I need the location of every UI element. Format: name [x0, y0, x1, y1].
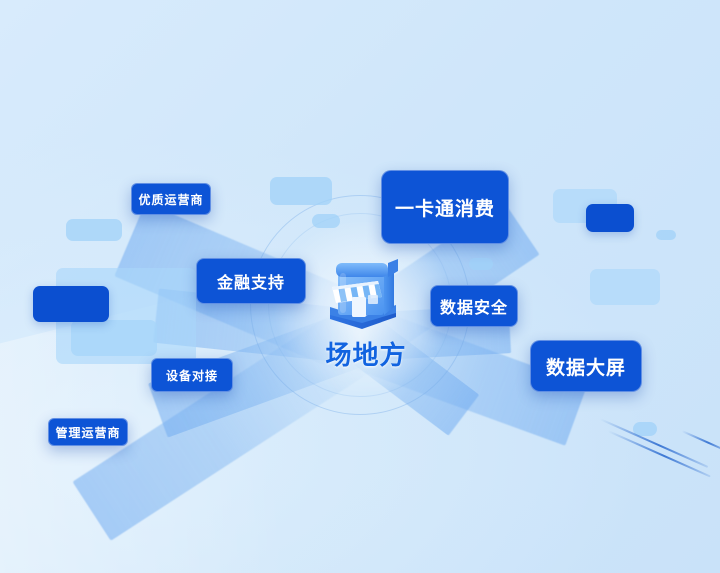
infographic-canvas: 场地方 优质运营商 金融支持 设备对接 管理运营商 一卡通消费 数据安全 数据大…: [0, 0, 720, 573]
node-chip-jinrong-zhichi[interactable]: 金融支持: [196, 258, 306, 304]
decor-rect-right-3: [656, 230, 676, 240]
decor-rect-top-1: [270, 177, 332, 205]
decor-rect-right-2: [586, 204, 634, 232]
decor-rect-right-5: [469, 258, 493, 270]
decor-rect-top-2: [312, 214, 340, 228]
decor-rect-left-3: [33, 286, 109, 322]
decor-rect-right-4: [590, 269, 660, 305]
decor-rect-left-4: [66, 219, 122, 241]
center-label: 场地方: [313, 335, 419, 372]
node-chip-yikatong-xiaofei[interactable]: 一卡通消费: [381, 170, 509, 244]
node-chip-youzhi-yunyingshang[interactable]: 优质运营商: [131, 183, 211, 215]
node-chip-shebei-duijie[interactable]: 设备对接: [151, 358, 233, 392]
node-chip-guanli-yunyingshang[interactable]: 管理运营商: [48, 418, 128, 446]
node-chip-shuju-anquan[interactable]: 数据安全: [430, 285, 518, 327]
shop-icon: [316, 247, 408, 339]
node-chip-shuju-daping[interactable]: 数据大屏: [530, 340, 642, 392]
